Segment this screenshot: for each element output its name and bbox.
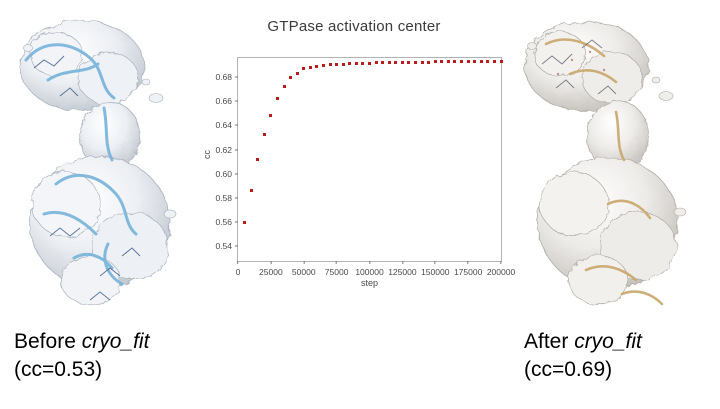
y-axis-tick: 0.64	[215, 120, 238, 130]
cryoem-density-after-icon	[512, 8, 712, 318]
caption-before-prefix: Before	[14, 330, 82, 353]
data-point	[434, 60, 437, 63]
data-point	[486, 60, 489, 63]
cc-convergence-chart: GTPase activation center 0.540.560.580.6…	[196, 6, 512, 302]
x-axis-label: step	[237, 278, 502, 288]
data-point	[460, 60, 463, 63]
data-point	[467, 60, 470, 63]
chart-title: GTPase activation center	[196, 18, 512, 35]
caption-before-program: cryo_fit	[82, 330, 150, 353]
data-point	[309, 66, 312, 69]
data-point	[269, 114, 272, 117]
data-point	[355, 62, 358, 65]
data-point	[315, 65, 318, 68]
caption-before: Before cryo_fit (cc=0.53)	[14, 328, 149, 384]
data-point	[243, 221, 246, 224]
data-point	[480, 60, 483, 63]
caption-after-program: cryo_fit	[574, 330, 642, 353]
data-point	[500, 60, 503, 63]
data-point	[322, 64, 325, 67]
x-axis-tick: 75000	[325, 261, 349, 277]
scatter-series	[238, 58, 501, 261]
data-point	[401, 61, 404, 64]
data-point	[381, 61, 384, 64]
y-axis-label: cc	[202, 150, 212, 159]
x-axis-tick: 25000	[259, 261, 283, 277]
data-point	[453, 60, 456, 63]
data-point	[427, 61, 430, 64]
data-point	[276, 97, 279, 100]
data-point	[348, 62, 351, 65]
data-point	[388, 61, 391, 64]
data-point	[394, 61, 397, 64]
y-axis-tick: 0.66	[215, 96, 238, 106]
data-point	[283, 85, 286, 88]
y-axis-tick: 0.62	[215, 145, 238, 155]
caption-after-value: (cc=0.69)	[524, 356, 642, 384]
data-point	[289, 76, 292, 79]
x-axis-tick: 100000	[355, 261, 383, 277]
data-point	[407, 61, 410, 64]
plot-area: 0.540.560.580.600.620.640.660.6802500050…	[237, 57, 502, 262]
data-point	[440, 60, 443, 63]
y-axis-tick: 0.54	[215, 241, 238, 251]
structure-image-after	[512, 8, 712, 318]
data-point	[375, 61, 378, 64]
x-axis-tick: 125000	[388, 261, 416, 277]
data-point	[493, 60, 496, 63]
data-point	[335, 63, 338, 66]
data-point	[447, 60, 450, 63]
x-axis-tick: 50000	[292, 261, 316, 277]
data-point	[256, 158, 259, 161]
data-point	[302, 67, 305, 70]
data-point	[361, 62, 364, 65]
caption-after-prefix: After	[524, 330, 574, 353]
caption-after: After cryo_fit (cc=0.69)	[524, 328, 642, 384]
x-axis-tick: 175000	[454, 261, 482, 277]
y-axis-tick: 0.56	[215, 217, 238, 227]
data-point	[368, 62, 371, 65]
data-point	[250, 189, 253, 192]
data-point	[414, 61, 417, 64]
x-axis-tick: 200000	[487, 261, 515, 277]
data-point	[263, 133, 266, 136]
caption-before-value: (cc=0.53)	[14, 356, 149, 384]
x-axis-tick: 0	[236, 261, 241, 277]
data-point	[329, 63, 332, 66]
y-axis-tick: 0.58	[215, 193, 238, 203]
y-axis-tick: 0.68	[215, 72, 238, 82]
structure-image-before	[4, 8, 204, 318]
cryoem-density-before-icon	[4, 8, 204, 318]
data-point	[296, 72, 299, 75]
data-point	[473, 60, 476, 63]
y-axis-tick: 0.60	[215, 169, 238, 179]
x-axis-tick: 150000	[421, 261, 449, 277]
data-point	[342, 63, 345, 66]
data-point	[421, 61, 424, 64]
